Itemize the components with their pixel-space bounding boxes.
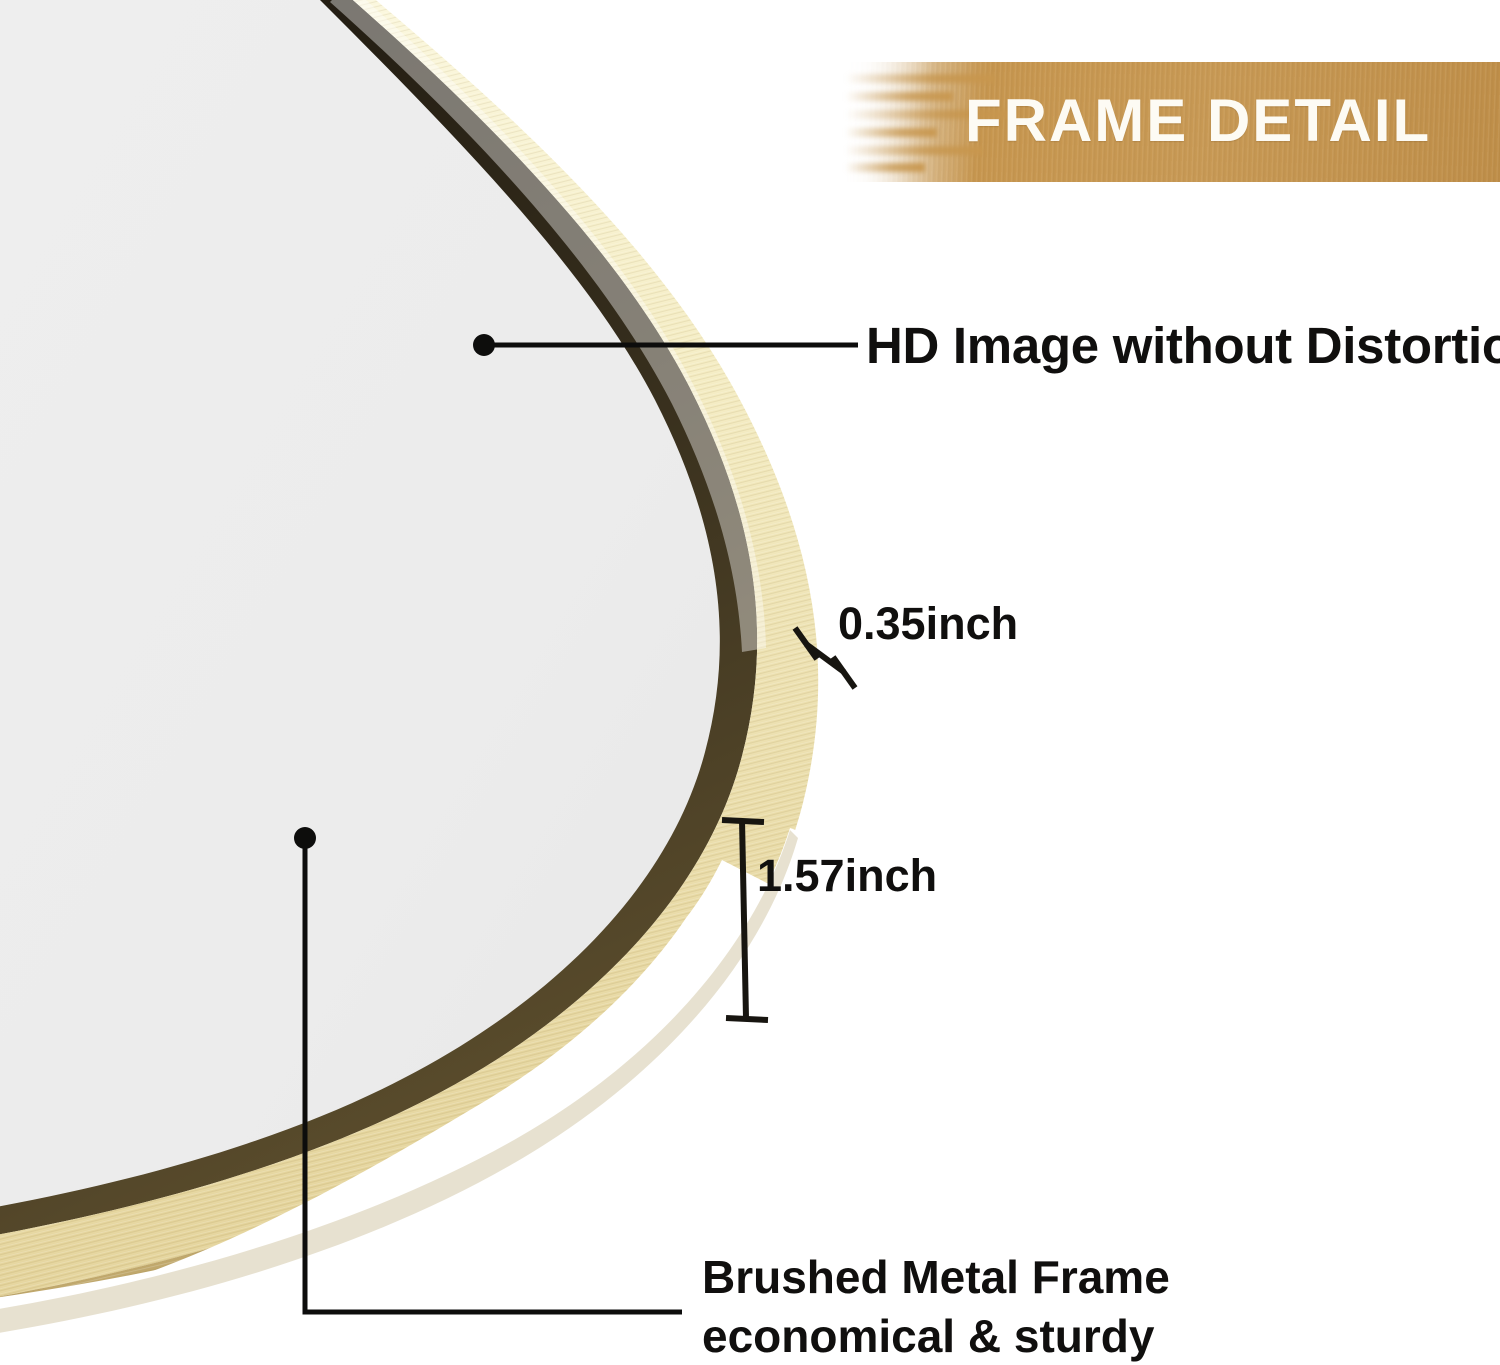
product-detail-image: FRAME DETAIL HD Image without Distortion… xyxy=(0,0,1500,1365)
banner-bristle-streak xyxy=(845,92,953,101)
dimension-label-frame-face-width: 0.35inch xyxy=(838,598,1018,650)
callout-brushed-metal-line2: economical & sturdy xyxy=(702,1307,1222,1365)
callout-label-brushed-metal: Brushed Metal Frame economical & sturdy xyxy=(702,1248,1222,1365)
frame-detail-banner: FRAME DETAIL xyxy=(845,62,1500,182)
banner-bristle-streak xyxy=(845,74,995,83)
banner-bristle-streak xyxy=(845,128,937,137)
banner-title: FRAME DETAIL xyxy=(965,86,1431,155)
dimension-label-frame-depth: 1.57inch xyxy=(757,850,937,902)
mirror-product-photo xyxy=(0,0,1500,1365)
callout-label-hd-image: HD Image without Distortion xyxy=(866,316,1500,375)
banner-bristle-streak xyxy=(845,146,983,155)
callout-brushed-metal-line1: Brushed Metal Frame xyxy=(702,1248,1222,1307)
banner-bristle-streak xyxy=(845,163,925,172)
